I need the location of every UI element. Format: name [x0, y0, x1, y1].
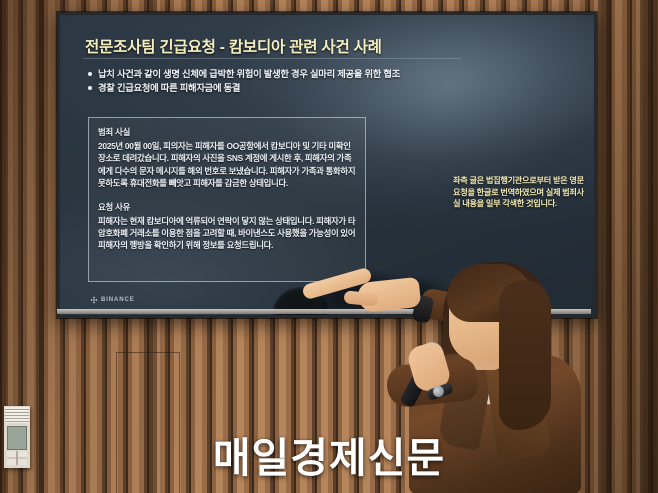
control-panel-buttons[interactable]	[7, 451, 27, 465]
slide-bullet-list: 납치 사건과 같이 생명 신체에 급박한 위험이 발생한 경우 실마리 제공을 …	[88, 67, 508, 95]
slide-title: 전문조사팀 긴급요청 - 캄보디아 관련 사건 사례	[85, 35, 382, 57]
section-spacer	[98, 190, 356, 201]
bullet-dot-icon	[88, 72, 92, 76]
list-item: 경찰 긴급요청에 따른 피해자금에 동결	[88, 81, 508, 95]
control-panel-label-strip	[5, 407, 29, 423]
bullet-text: 경찰 긴급요청에 따른 피해자금에 동결	[98, 81, 240, 95]
criminal-facts-body: 2025년 00월 00일, 피의자는 피해자를 OO공항에서 캄보디아 및 기…	[98, 140, 356, 190]
bullet-text: 납치 사건과 같이 생명 신체에 급박한 위험이 발생한 경우 실마리 제공을 …	[98, 67, 400, 81]
request-reason-heading: 요청 사유	[98, 201, 356, 213]
bullet-dot-icon	[88, 86, 92, 90]
wall-control-panel-icon[interactable]	[4, 406, 30, 468]
request-reason-body: 피해자는 현재 캄보디아에 억류되어 연락이 닿지 않는 상태입니다. 피해자가…	[98, 215, 356, 252]
title-underline	[83, 58, 461, 59]
photo-scene: 전문조사팀 긴급요청 - 캄보디아 관련 사건 사례 납치 사건과 같이 생명 …	[0, 0, 658, 493]
binance-logo: BINANCE	[90, 296, 135, 304]
control-panel-display	[7, 426, 27, 450]
thumb	[343, 290, 378, 306]
list-item: 납치 사건과 같이 생명 신체에 급박한 위험이 발생한 경우 실마리 제공을 …	[88, 67, 508, 81]
speaker-figure	[395, 258, 595, 493]
binance-diamond-icon	[90, 296, 98, 304]
hair-side	[499, 280, 551, 430]
case-detail-box: 범죄 사실 2025년 00월 00일, 피의자는 피해자를 OO공항에서 캄보…	[88, 117, 366, 282]
binance-wordmark: BINANCE	[101, 297, 135, 303]
slide-side-note: 좌측 글은 법집행기관으로부터 받은 영문요청을 한글로 번역하였으며 실제 범…	[453, 175, 585, 210]
criminal-facts-heading: 범죄 사실	[98, 126, 356, 138]
